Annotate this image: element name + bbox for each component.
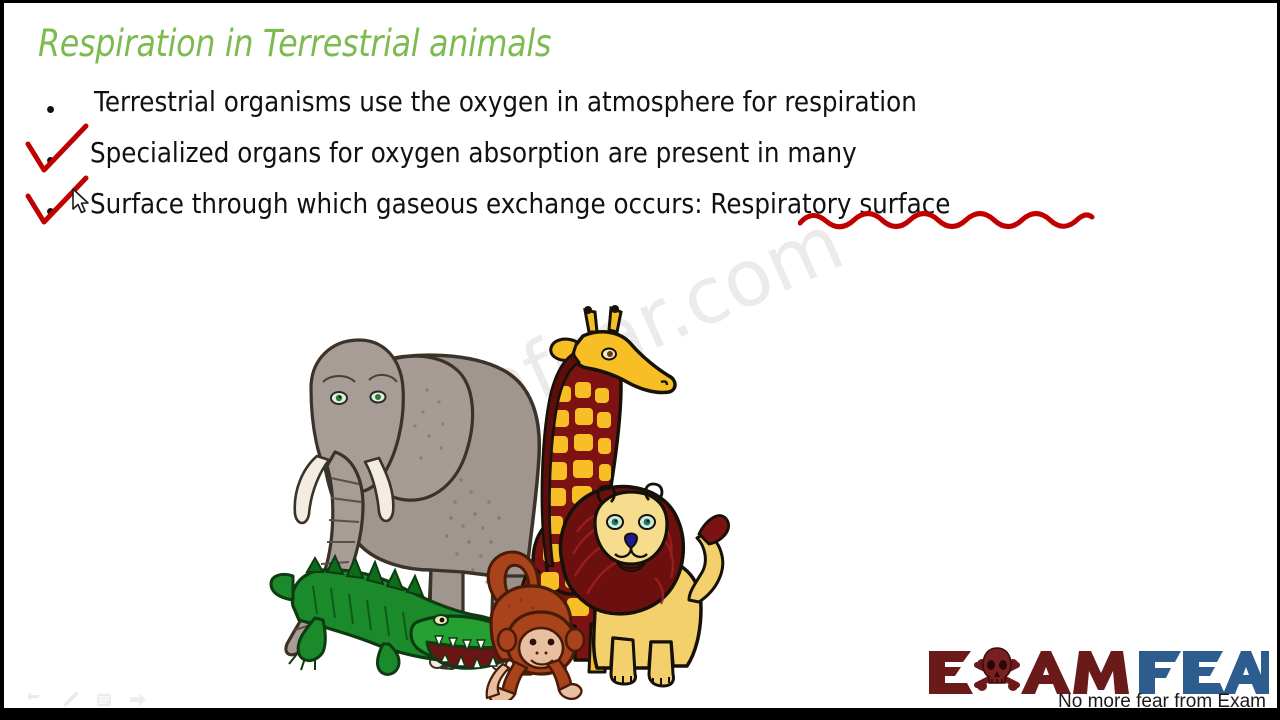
bullet-text: Terrestrial organisms use the oxygen in … <box>94 80 917 124</box>
undo-arrow-icon[interactable] <box>26 690 46 710</box>
list-icon[interactable] <box>94 690 114 710</box>
skull-and-crossbones-icon <box>977 648 1018 691</box>
bullet-list: • Terrestrial organisms use the oxygen i… <box>38 80 1218 233</box>
slide-title: Respiration in Terrestrial animals <box>38 22 551 65</box>
list-item: • Specialized organs for oxygen absorpti… <box>38 131 1218 182</box>
pen-icon[interactable] <box>60 690 80 710</box>
forward-arrow-icon[interactable] <box>128 690 148 710</box>
list-item: • Terrestrial organisms use the oxygen i… <box>38 80 1218 131</box>
slide-border-top <box>0 0 1280 3</box>
slide-border-left <box>0 0 4 712</box>
terrestrial-animals-illustration <box>265 270 765 700</box>
bullet-marker: • <box>46 198 55 224</box>
bullet-text: Surface through which gaseous exchange o… <box>90 182 950 226</box>
examfear-wordmark <box>925 645 1270 697</box>
annotation-toolbar[interactable] <box>26 690 148 710</box>
bullet-text: Specialized organs for oxygen absorption… <box>90 131 857 175</box>
list-item: • Surface through which gaseous exchange… <box>38 182 1218 233</box>
bullet-marker: • <box>46 96 55 122</box>
examfear-logo: No more fear from Exam <box>925 645 1270 715</box>
slide-border-bottom <box>0 708 1280 720</box>
bullet-marker: • <box>46 147 55 173</box>
presentation-slide: Respiration in Terrestrial animals • Ter… <box>0 0 1280 720</box>
